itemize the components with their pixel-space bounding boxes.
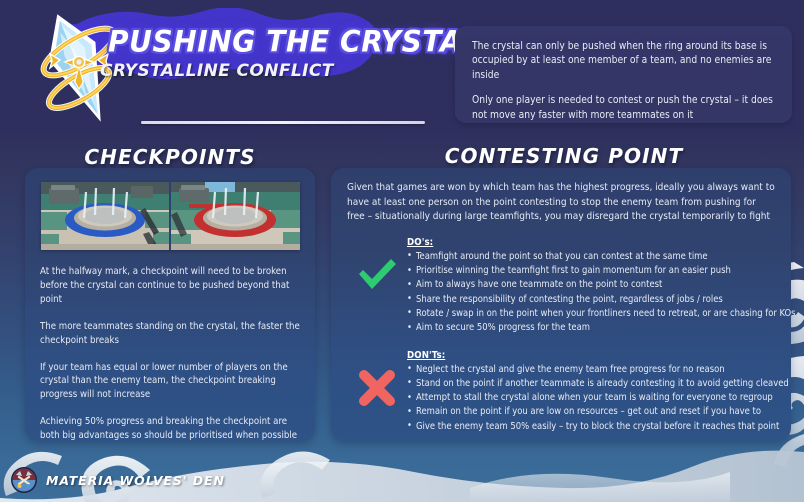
check-icon	[347, 237, 407, 293]
dos-item: Share the responsibility of contesting t…	[407, 293, 796, 307]
donts-item: Neglect the crystal and give the enemy t…	[407, 363, 789, 377]
donts-item: Give the enemy team 50% easily – try to …	[407, 420, 789, 434]
checkpoints-paragraph-4: Achieving 50% progress and breaking the …	[40, 415, 300, 443]
header: PUSHING THE CRYSTAL CRYSTALLINE CONFLICT	[0, 0, 450, 142]
cross-icon	[347, 350, 407, 408]
title-block: PUSHING THE CRYSTAL CRYSTALLINE CONFLICT	[108, 28, 448, 81]
donts-list: Neglect the crystal and give the enemy t…	[407, 363, 789, 434]
checkpoint-screenshot-blue	[41, 182, 170, 250]
contesting-heading: CONTESTING POINT	[330, 144, 798, 168]
dos-item: Aim to always have one teammate on the p…	[407, 278, 796, 292]
wolf-crest-icon	[10, 466, 38, 494]
donts-title: DON'Ts:	[407, 350, 789, 361]
page-title: PUSHING THE CRYSTAL	[108, 27, 448, 57]
dos-item: Rotate / swap in on the point when your …	[407, 307, 796, 321]
checkpoints-paragraph-2: The more teammates standing on the cryst…	[40, 320, 300, 348]
top-info-paragraph-1: The crystal can only be pushed when the …	[472, 40, 776, 83]
donts-item: Attempt to stall the crystal alone when …	[407, 391, 789, 405]
donts-item: Stand on the point if another teammate i…	[407, 377, 789, 391]
checkpoints-paragraph-3: If your team has equal or lower number o…	[40, 361, 300, 403]
dos-title: DO's:	[407, 237, 796, 248]
donts-body: DON'Ts: Neglect the crystal and give the…	[407, 350, 789, 434]
footer-brand: MATERIA WOLVES' DEN	[10, 466, 225, 494]
dos-list: Teamfight around the point so that you c…	[407, 250, 796, 336]
checkpoint-screenshot-red	[171, 182, 300, 250]
brand-name: MATERIA WOLVES' DEN	[46, 473, 225, 488]
checkpoints-panel: At the halfway mark, a checkpoint will n…	[25, 168, 315, 441]
checkpoint-screenshot-pair	[41, 182, 300, 250]
donts-row: DON'Ts: Neglect the crystal and give the…	[347, 350, 775, 434]
page-subtitle: CRYSTALLINE CONFLICT	[100, 61, 448, 81]
dos-item: Teamfight around the point so that you c…	[407, 250, 796, 264]
contesting-panel: Given that games are won by which team h…	[331, 168, 791, 441]
contesting-intro: Given that games are won by which team h…	[347, 181, 775, 225]
checkpoints-heading: CHECKPOINTS	[25, 145, 315, 169]
top-info-card: The crystal can only be pushed when the …	[455, 26, 792, 123]
dos-item: Aim to secure 50% progress for the team	[407, 321, 796, 335]
dos-item: Prioritise winning the teamfight first t…	[407, 264, 796, 278]
title-divider	[141, 121, 425, 124]
top-info-paragraph-2: Only one player is needed to contest or …	[472, 94, 776, 123]
dos-row: DO's: Teamfight around the point so that…	[347, 237, 775, 336]
dos-body: DO's: Teamfight around the point so that…	[407, 237, 796, 336]
checkpoints-paragraph-1: At the halfway mark, a checkpoint will n…	[40, 265, 300, 307]
donts-item: Remain on the point if you are low on re…	[407, 405, 789, 419]
